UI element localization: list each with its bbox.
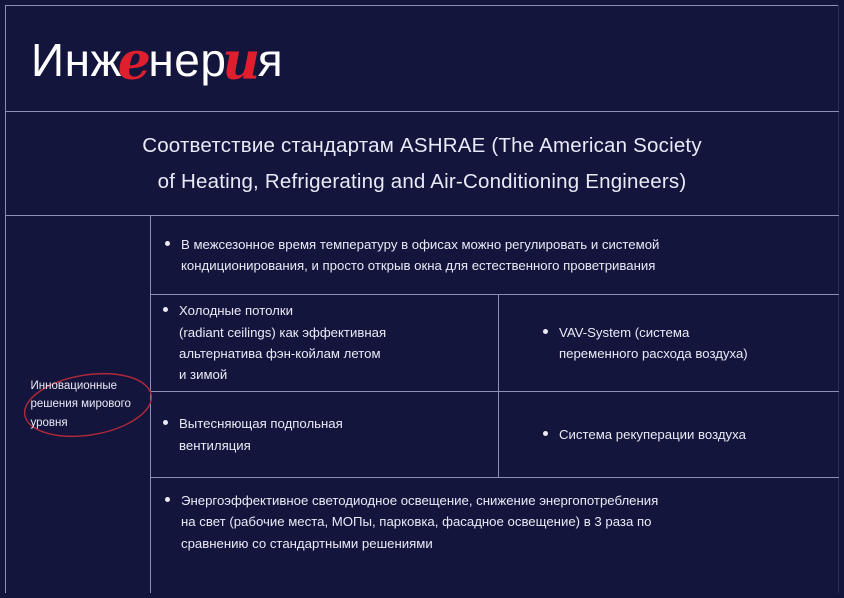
- bullet-text-led-lighting: Энергоэффективное светодиодное освещение…: [181, 490, 658, 554]
- bullet-item-vav-system: VAV-System (система переменного расхода …: [499, 322, 748, 365]
- bullet-text-seasonal: В межсезонное время температуру в офисах…: [181, 234, 659, 277]
- content-cell-seasonal: В межсезонное время температуру в офисах…: [151, 216, 839, 294]
- bullet-dot-icon: [543, 431, 548, 436]
- slide: Инженерия Соответствие стандартам ASHRAE…: [0, 0, 844, 598]
- bullet-text-heat-recovery: Система рекуперации воздуха: [559, 424, 746, 445]
- sidebar-category: Инновационные решения мирового уровня: [6, 216, 150, 593]
- bullet-item-led-lighting: Энергоэффективное светодиодное освещение…: [151, 490, 658, 554]
- content-cell-heat-recovery: Система рекуперации воздуха: [499, 392, 839, 477]
- bullet-dot-icon: [543, 329, 548, 334]
- sidebar-inner: Инновационные решения мирового уровня: [6, 377, 150, 433]
- brand-part-5: я: [258, 34, 283, 86]
- bullet-text-vav-system: VAV-System (система переменного расхода …: [559, 322, 748, 365]
- bullet-text-underfloor-ventilation: Вытесняющая подпольная вентиляция: [179, 413, 343, 456]
- bullet-dot-icon: [165, 241, 170, 246]
- bullet-text-radiant-ceilings: Холодные потолки (radiant ceilings) как …: [179, 300, 386, 386]
- brand-part-2-accent: е: [118, 31, 152, 92]
- slide-title: Соответствие стандартам ASHRAE (The Amer…: [6, 112, 838, 215]
- content-cell-radiant-ceilings: Холодные потолки (radiant ceilings) как …: [151, 295, 498, 391]
- content-cell-underfloor-ventilation: Вытесняющая подпольная вентиляция: [151, 392, 498, 477]
- brand-logo: Инженерия: [31, 33, 283, 85]
- bullet-item-underfloor-ventilation: Вытесняющая подпольная вентиляция: [151, 413, 343, 456]
- bullet-dot-icon: [165, 497, 170, 502]
- title-line-2: of Heating, Refrigerating and Air-Condit…: [158, 164, 687, 200]
- sidebar-category-label: Инновационные решения мирового уровня: [31, 377, 136, 433]
- bullet-item-heat-recovery: Система рекуперации воздуха: [499, 424, 746, 445]
- title-line-1: Соответствие стандартам ASHRAE (The Amer…: [142, 128, 702, 164]
- bullet-dot-icon: [163, 420, 168, 425]
- content-cell-led-lighting: Энергоэффективное светодиодное освещение…: [151, 478, 839, 563]
- bullet-dot-icon: [163, 307, 168, 312]
- logo-band: Инженерия: [6, 6, 838, 111]
- brand-part-3: нер: [148, 34, 226, 86]
- brand-part-1: Инж: [31, 34, 122, 86]
- brand-part-4-accent: и: [222, 31, 260, 92]
- content-cell-vav-system: VAV-System (система переменного расхода …: [499, 295, 839, 391]
- bullet-item-seasonal: В межсезонное время температуру в офисах…: [151, 234, 659, 277]
- bullet-item-radiant-ceilings: Холодные потолки (radiant ceilings) как …: [151, 300, 386, 386]
